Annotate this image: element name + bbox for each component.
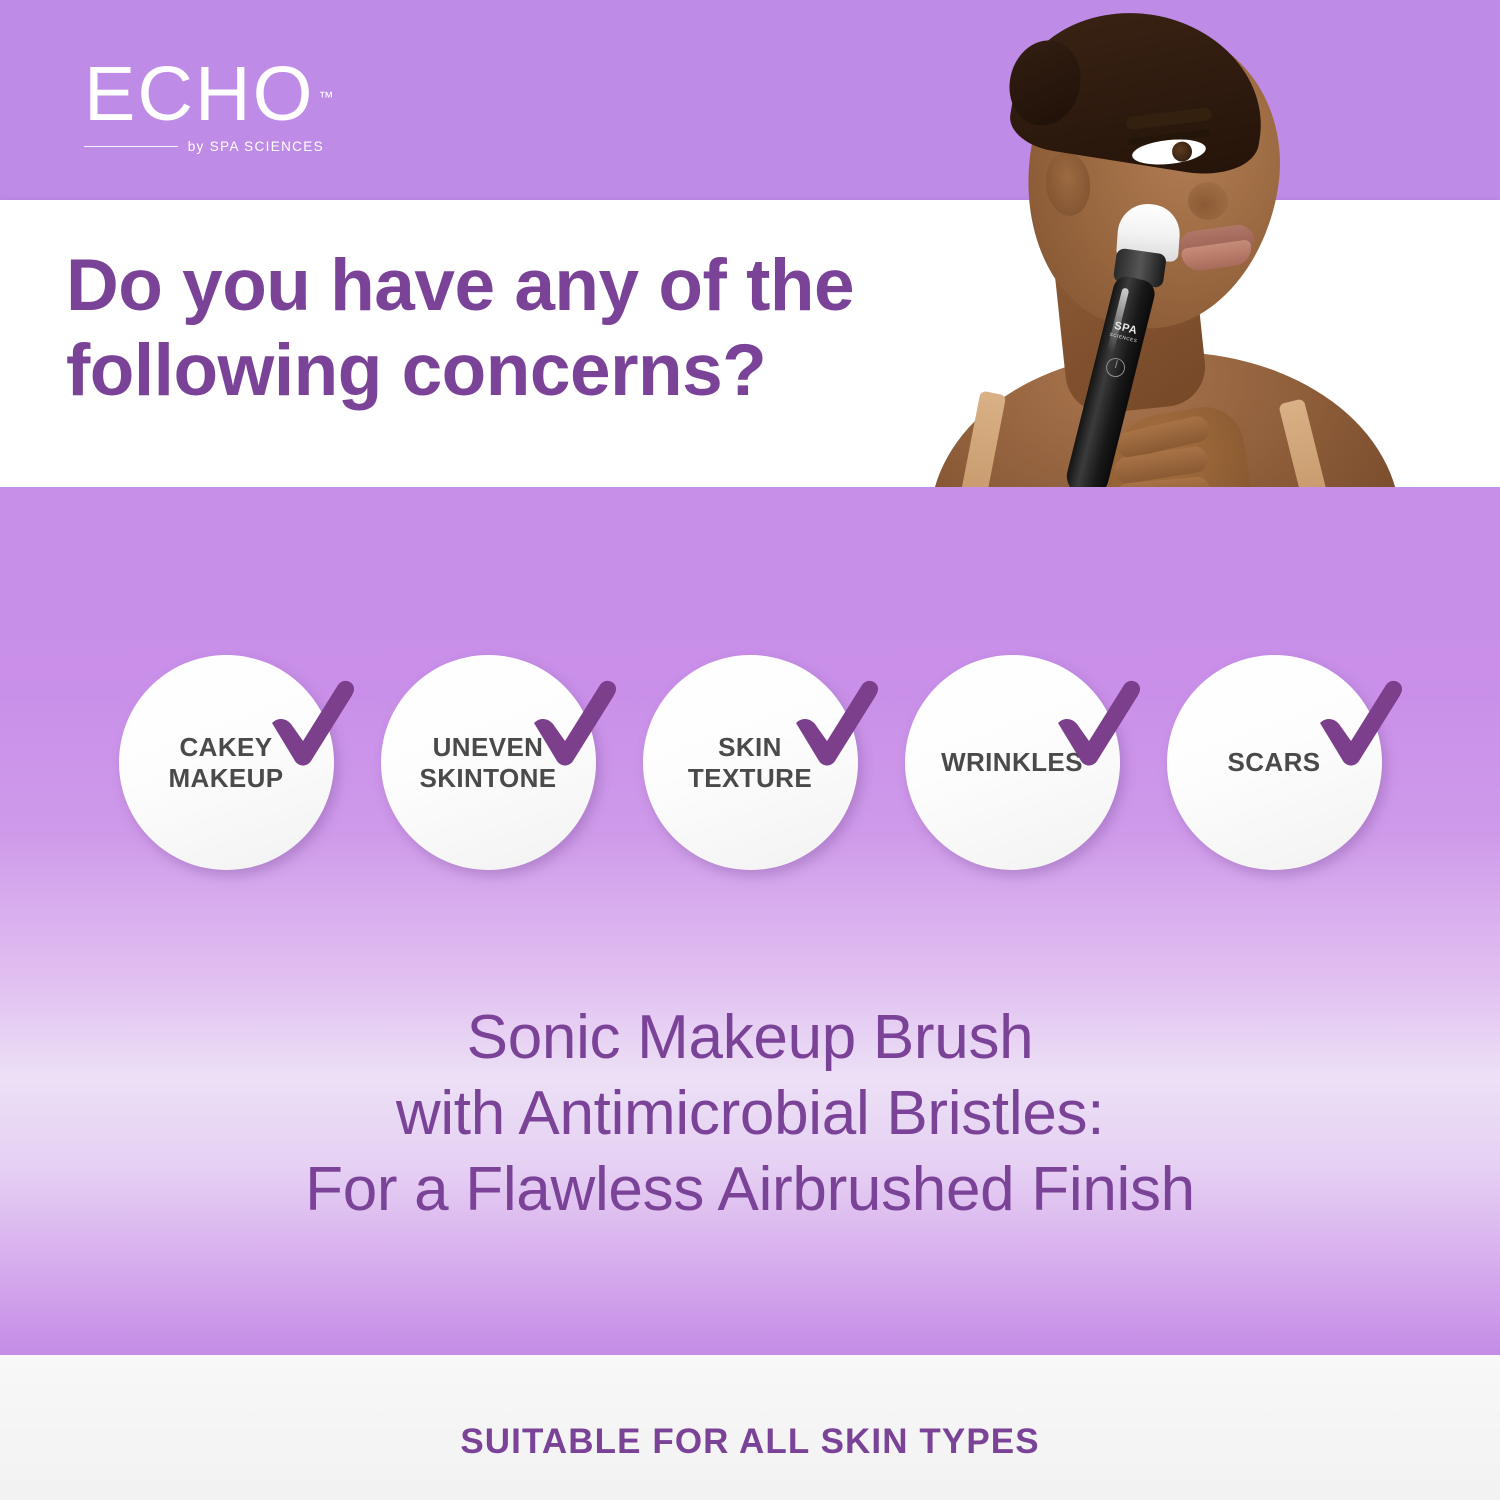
logo-tagline-row: by SPA SCIENCES — [84, 139, 324, 154]
concerns-row: CAKEY MAKEUP UNEVEN SKINTONE SKIN TEXTUR… — [0, 655, 1500, 870]
logo-tagline: by SPA SCIENCES — [188, 139, 324, 154]
concern-item-cakey-makeup: CAKEY MAKEUP — [119, 655, 334, 870]
concern-label: CAKEY MAKEUP — [119, 655, 334, 870]
concern-item-skin-texture: SKIN TEXTURE — [643, 655, 858, 870]
concern-item-scars: SCARS — [1167, 655, 1382, 870]
logo-wordmark: ECHO ™ — [84, 52, 314, 136]
concern-label: WRINKLES — [905, 655, 1120, 870]
footer-text: SUITABLE FOR ALL SKIN TYPES — [0, 1422, 1500, 1462]
headline-text: Do you have any of the following concern… — [66, 243, 926, 413]
logo-word-text: ECHO — [84, 51, 314, 137]
concern-item-uneven-skintone: UNEVEN SKINTONE — [381, 655, 596, 870]
brand-logo: ECHO ™ by SPA SCIENCES — [84, 52, 404, 154]
concern-label: UNEVEN SKINTONE — [381, 655, 596, 870]
product-title: Sonic Makeup Brush with Antimicrobial Br… — [0, 1000, 1500, 1228]
concern-label: SCARS — [1167, 655, 1382, 870]
trademark-icon: ™ — [318, 56, 333, 140]
concern-label: SKIN TEXTURE — [643, 655, 858, 870]
concern-item-wrinkles: WRINKLES — [905, 655, 1120, 870]
product-marketing-image: ECHO ™ by SPA SCIENCES Do you have any o… — [0, 0, 1500, 1500]
logo-divider-rule — [84, 146, 178, 147]
